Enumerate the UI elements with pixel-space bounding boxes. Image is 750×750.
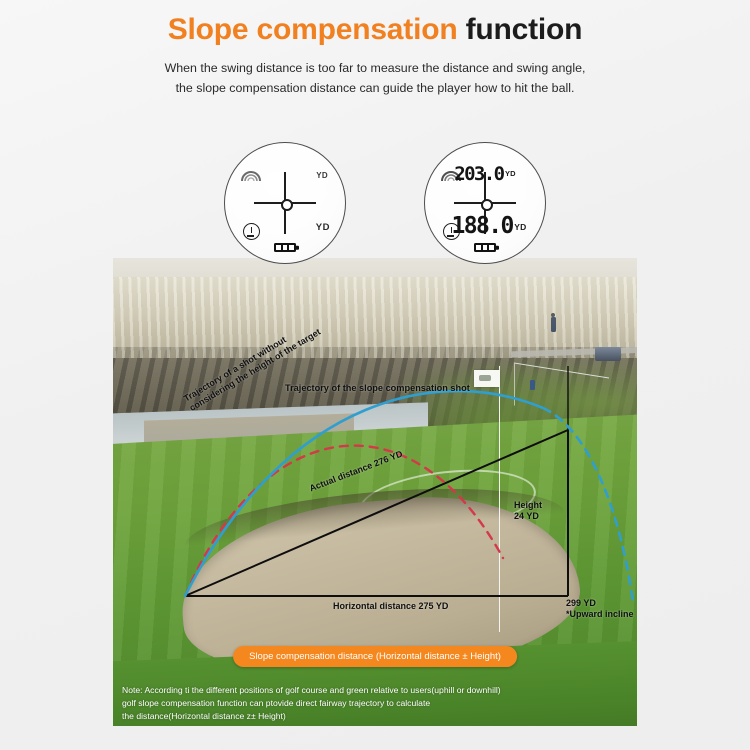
- slope-compensation-formula-badge: Slope compensation distance (Horizontal …: [233, 646, 517, 667]
- battery-cell: [476, 245, 481, 250]
- page-title-accent: Slope compensation: [168, 13, 458, 46]
- label-slope-trajectory: Trajectory of the slope compensation sho…: [285, 383, 470, 395]
- label-height-line-2: 24 YD: [514, 511, 542, 522]
- rangefinder-scope-empty: YD YD: [224, 142, 346, 264]
- note-line-2: golf slope compensation function can pto…: [122, 697, 622, 710]
- scope-bottom-reading: 188.0YD: [425, 213, 545, 239]
- crosshair-reticle: [254, 172, 316, 234]
- scope-bottom-unit: YD: [514, 222, 526, 232]
- battery-icon: [274, 243, 296, 252]
- subtitle-line-1: When the swing distance is too far to me…: [110, 58, 640, 78]
- label-incline-line-1: 299 YD: [566, 598, 634, 609]
- line-of-sight-hypotenuse: [185, 430, 568, 596]
- page-subtitle: When the swing distance is too far to me…: [110, 58, 640, 98]
- battery-cell: [276, 245, 281, 250]
- label-incline-line-2: *Upward incline: [566, 609, 634, 620]
- scope-empty-top-unit: YD: [316, 171, 328, 180]
- subtitle-line-2: the slope compensation distance can guid…: [110, 78, 640, 98]
- battery-icon: [474, 243, 496, 252]
- trajectory-without-height-curve: [185, 446, 503, 596]
- label-height: Height 24 YD: [514, 500, 542, 523]
- header: Slope compensation function When the swi…: [0, 0, 750, 99]
- crosshair-center-dot: [281, 199, 293, 211]
- label-upward-incline: 299 YD *Upward incline: [566, 598, 634, 621]
- battery-cell: [489, 245, 494, 250]
- trajectory-slope-compensation-descent: [543, 408, 633, 602]
- footer-note: Note: According ti the different positio…: [122, 684, 622, 723]
- rangefinder-scope-reading: 203.0YD 188.0YD: [424, 142, 546, 264]
- trajectory-slope-compensation-curve: [185, 391, 543, 596]
- battery-cell: [289, 245, 294, 250]
- label-height-line-1: Height: [514, 500, 542, 511]
- note-line-3: the distance(Horizontal distance z± Heig…: [122, 710, 622, 723]
- scope-empty-bottom-unit: YD: [316, 222, 330, 233]
- battery-cell: [283, 245, 288, 250]
- scope-bottom-value: 188.0: [452, 213, 513, 239]
- page-root: Slope compensation function When the swi…: [0, 0, 750, 750]
- page-title: Slope compensation function: [0, 12, 750, 47]
- crosshair-center-dot: [481, 199, 493, 211]
- battery-cell: [483, 245, 488, 250]
- label-horizontal-distance: Horizontal distance 275 YD: [333, 601, 448, 612]
- note-line-1: Note: According ti the different positio…: [122, 684, 622, 697]
- page-title-plain: function: [466, 13, 583, 46]
